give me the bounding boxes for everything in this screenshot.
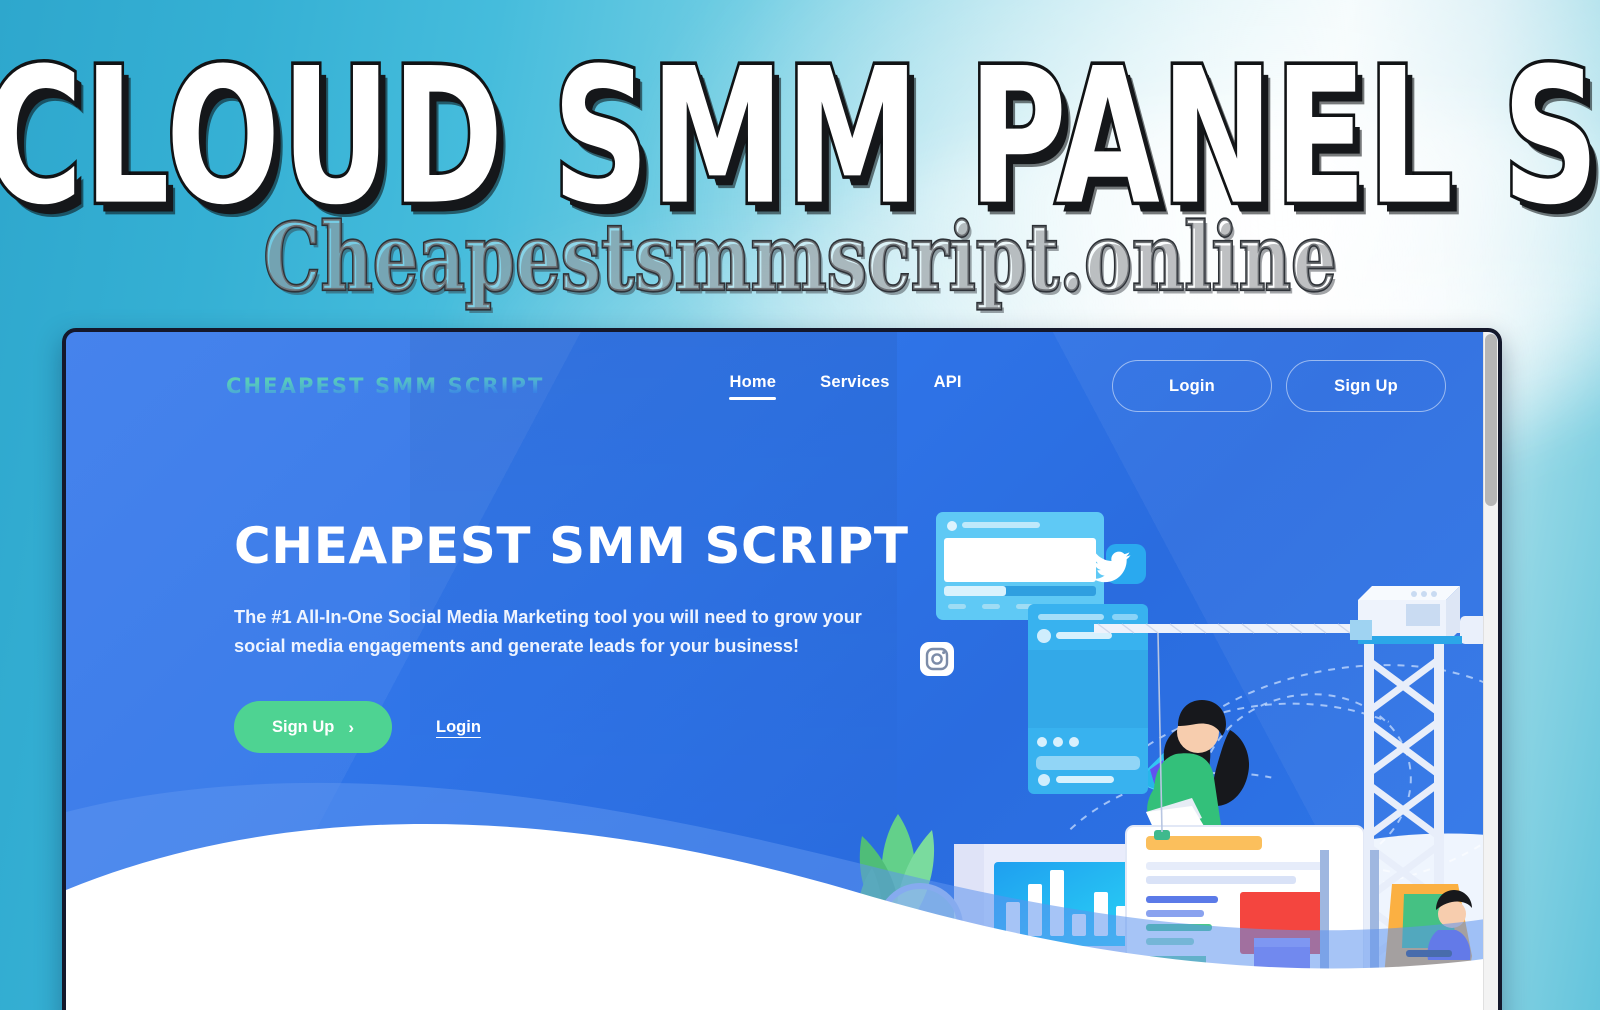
- scrollbar-thumb[interactable]: [1485, 334, 1497, 506]
- nav-links: Home Services API: [729, 373, 961, 400]
- nav-link-api[interactable]: API: [934, 373, 962, 400]
- nav-signup-button[interactable]: Sign Up: [1286, 360, 1446, 412]
- vertical-scrollbar[interactable]: [1483, 332, 1498, 1010]
- nav-login-button[interactable]: Login: [1112, 360, 1272, 412]
- nav-actions: Login Sign Up: [1112, 360, 1446, 412]
- site-navbar: CHEAPEST SMM SCRIPT Home Services API Lo…: [66, 332, 1498, 440]
- hero-title: CHEAPEST SMM SCRIPT: [234, 520, 914, 573]
- poster-canvas: CLOUD SMM PANEL SCRIPT Cheapestsmmscript…: [0, 0, 1600, 1010]
- site-logo[interactable]: CHEAPEST SMM SCRIPT: [226, 374, 544, 398]
- website-screenshot-card: CHEAPEST SMM SCRIPT Home Services API Lo…: [62, 328, 1502, 1010]
- social-post-card: [936, 512, 1104, 620]
- hero-section: CHEAPEST SMM SCRIPT Home Services API Lo…: [66, 332, 1498, 1010]
- bottom-wave-decoration: [66, 694, 1498, 1010]
- poster-title: CLOUD SMM PANEL SCRIPT: [0, 44, 1600, 231]
- hero-subtitle: The #1 All-In-One Social Media Marketing…: [234, 603, 864, 662]
- instagram-icon: [920, 642, 954, 676]
- nav-link-home[interactable]: Home: [729, 373, 776, 400]
- nav-link-services[interactable]: Services: [820, 373, 890, 400]
- poster-subtitle: Cheapestsmmscript.online: [24, 212, 1576, 305]
